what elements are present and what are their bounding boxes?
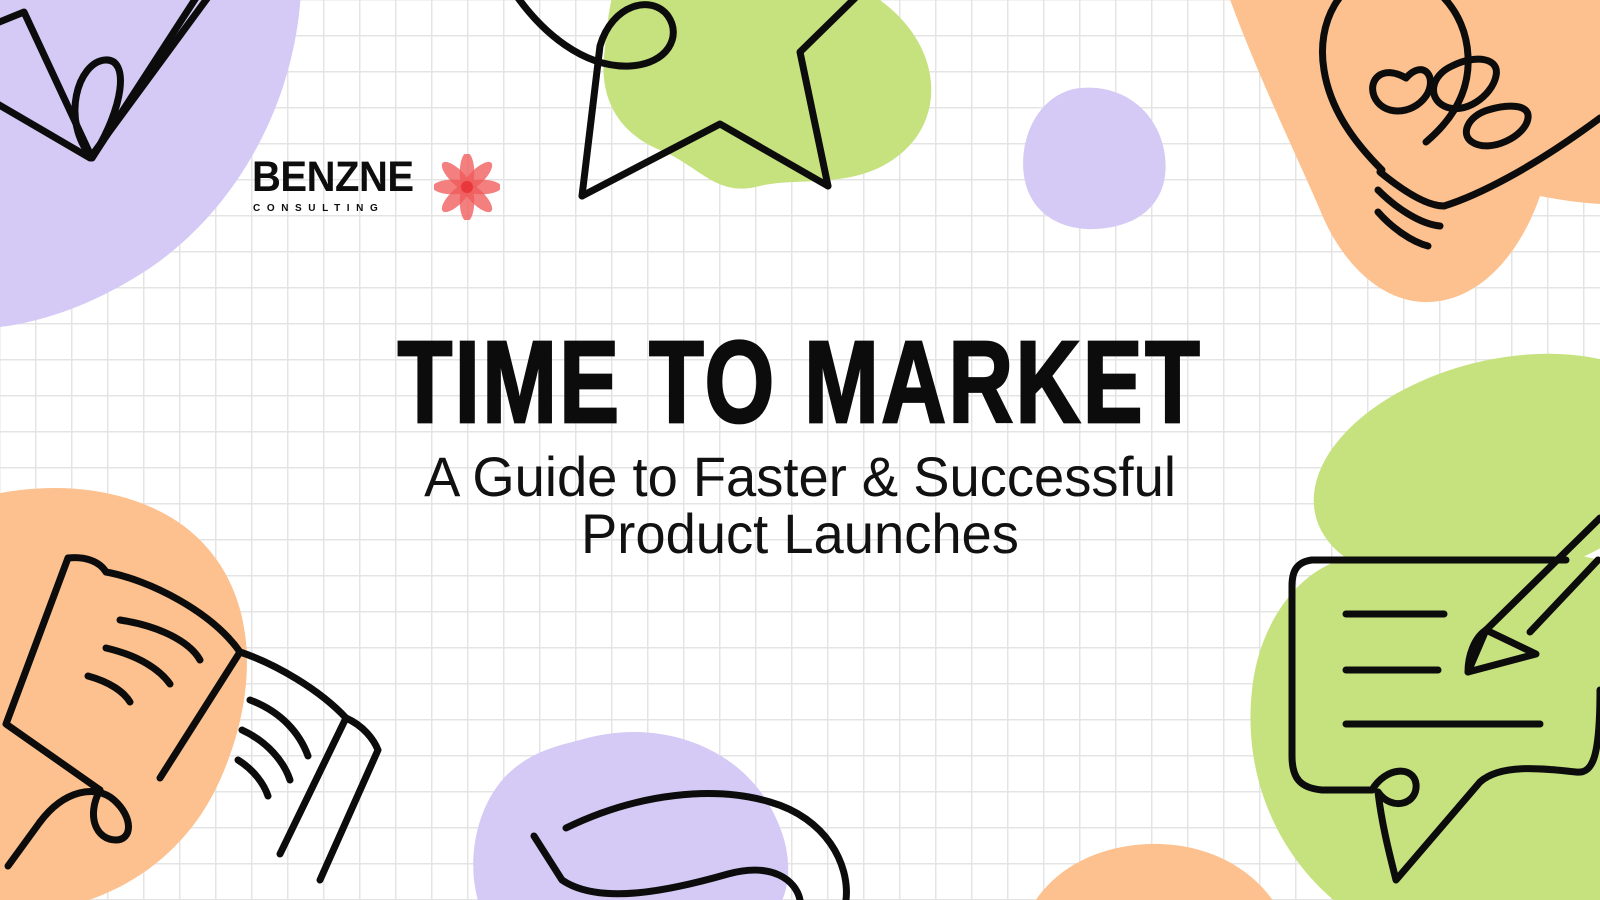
star-icon [500,0,900,196]
poster-canvas: BENZNE CONSULTING TIME TO MARKET A [0,0,1600,900]
subtitle-line-1: A Guide to Faster & Successful [24,448,1576,506]
title-block: TIME TO MARKET A Guide to Faster & Succe… [0,330,1600,563]
flower-icon [434,154,500,220]
lightbulb-icon [1322,0,1600,246]
logo-name: BENZNE [252,158,414,198]
wave-lines-icon [534,794,846,900]
checkmark-loop-icon [0,0,250,158]
brand-logo[interactable]: BENZNE CONSULTING [252,152,500,220]
subtitle-line-2: Product Launches [24,505,1576,563]
page-title: TIME TO MARKET [112,330,1488,437]
note-pencil-icon [1292,518,1600,880]
open-book-icon [6,558,378,880]
logo-wordmark: BENZNE CONSULTING [252,158,426,215]
logo-tagline: CONSULTING [253,203,426,214]
